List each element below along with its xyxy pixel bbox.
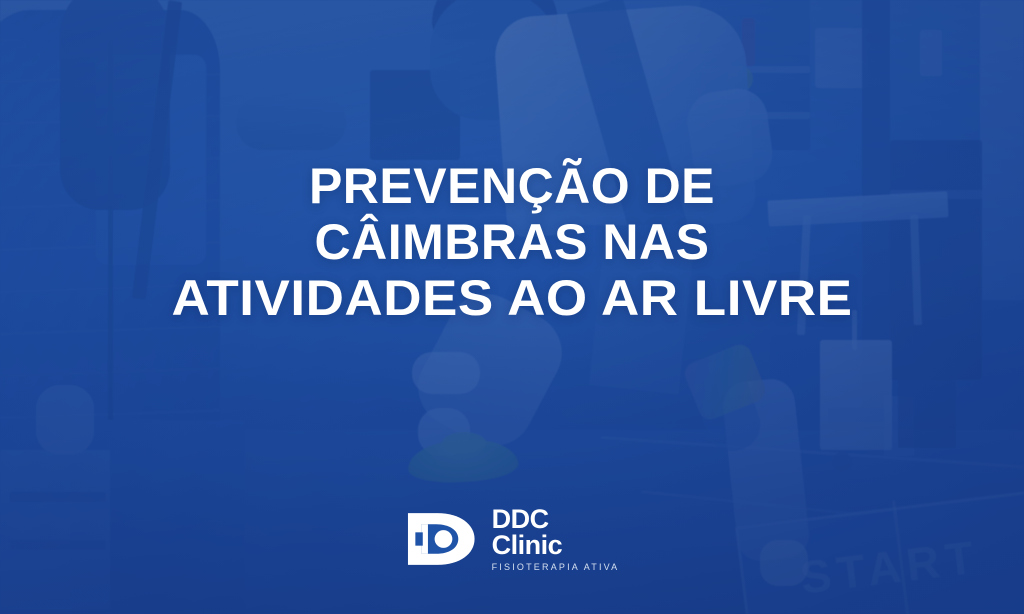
brand-logo: DDC Clinic FISIOTERAPIA ATIVA [0, 506, 1024, 572]
logo-brand-clinic: Clinic [492, 532, 620, 559]
promo-banner: START PREVENÇÃO DE CÂIMBRAS [0, 0, 1024, 614]
logo-tagline: FISIOTERAPIA ATIVA [492, 563, 620, 572]
logo-brand-ddc: DDC [492, 506, 620, 532]
ddc-monogram-icon [405, 510, 479, 568]
headline-line-1: PREVENÇÃO DE [40, 158, 984, 214]
logo-wordmark: DDC Clinic FISIOTERAPIA ATIVA [492, 506, 620, 572]
headline-line-3: ATIVIDADES AO AR LIVRE [12, 270, 1013, 326]
headline: PREVENÇÃO DE CÂIMBRAS NAS ATIVIDADES AO … [0, 158, 1024, 326]
headline-line-2: CÂIMBRAS NAS [40, 214, 984, 270]
